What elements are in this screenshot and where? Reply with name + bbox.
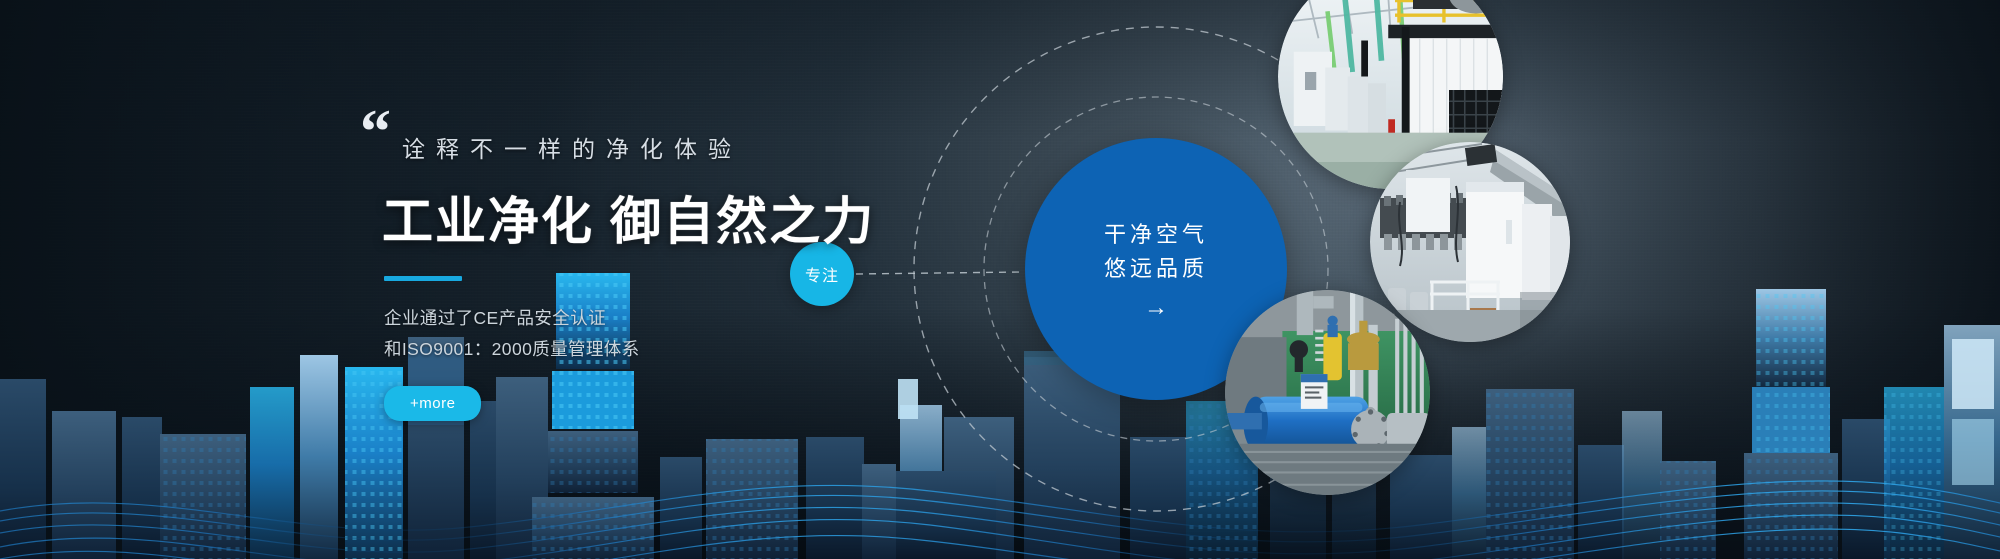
hero-headline: 工业净化 御自然之力 <box>382 180 875 254</box>
description-line-2: 和ISO9001：2000质量管理体系 <box>384 334 875 365</box>
arrow-right-icon: → <box>1144 296 1168 320</box>
photo-pressure-vessel[interactable] <box>1225 290 1430 495</box>
main-circle-line-2: 悠远品质 <box>1104 252 1208 286</box>
focus-connector-line <box>856 272 1022 274</box>
photo-machines-svg <box>1370 142 1570 342</box>
hero-banner: “ 诠释不一样的净化体验 工业净化 御自然之力 企业通过了CE产品安全认证 和I… <box>0 0 2000 559</box>
description-line-1: 企业通过了CE产品安全认证 <box>384 303 875 334</box>
tagline-row: “ 诠释不一样的净化体验 <box>360 108 875 164</box>
hero-description: 企业通过了CE产品安全认证 和ISO9001：2000质量管理体系 <box>384 303 875 364</box>
hero-copy-block: “ 诠释不一样的净化体验 工业净化 御自然之力 企业通过了CE产品安全认证 和I… <box>360 108 875 421</box>
photo-production-machines[interactable] <box>1370 142 1570 342</box>
photo-vessel-svg <box>1225 290 1430 495</box>
hero-tagline: 诠释不一样的净化体验 <box>402 108 742 164</box>
quote-mark-icon: “ <box>360 110 388 155</box>
main-circle-line-1: 干净空气 <box>1104 218 1208 252</box>
more-button[interactable]: +more <box>384 386 481 421</box>
accent-divider <box>384 276 462 281</box>
hero-graphic-cluster: 专注 干净空气 悠远品质 → <box>770 0 2000 559</box>
